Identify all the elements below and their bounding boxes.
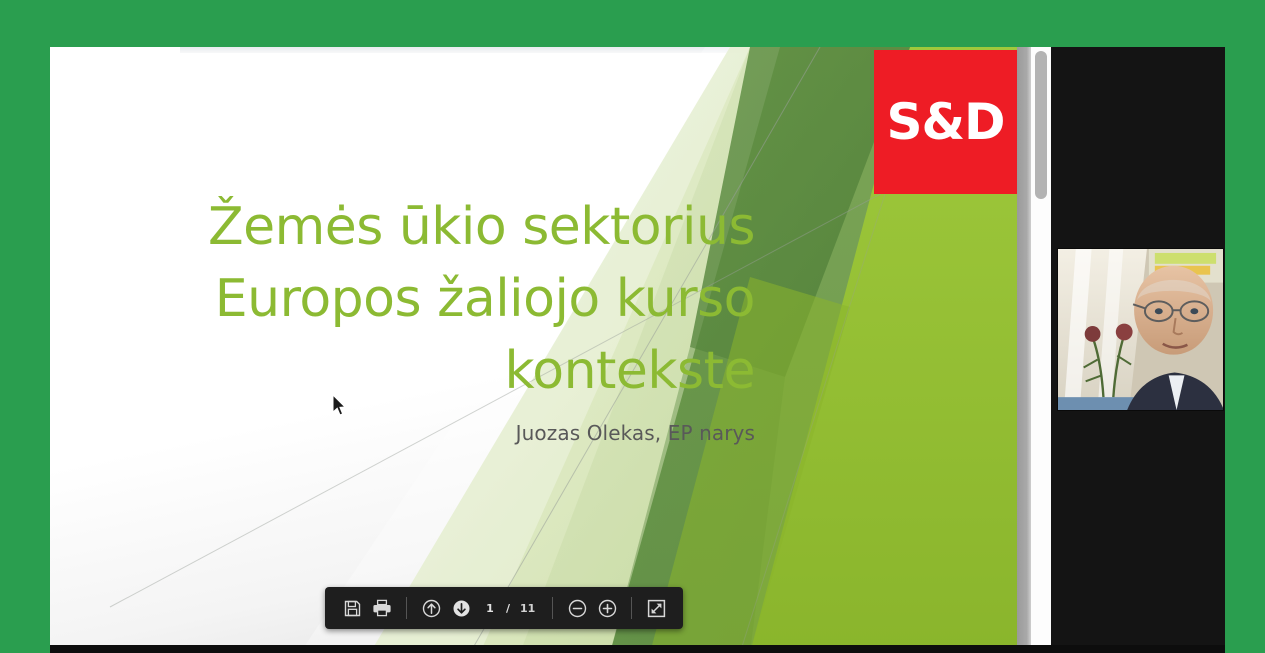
toolbar-separator [406,597,407,619]
fit-to-screen-button[interactable] [641,593,671,623]
zoom-out-button[interactable] [562,593,592,623]
viewer-edge-shadow [1017,47,1031,653]
next-page-button[interactable] [446,593,476,623]
toolbar-separator [631,597,632,619]
save-button[interactable] [337,593,367,623]
toolbar-separator [552,597,553,619]
page-indicator[interactable]: 1 / 11 [476,602,543,615]
print-button[interactable] [367,593,397,623]
pdf-slide-canvas[interactable]: S&D Žemės ūkio sektorius Europos žaliojo… [50,47,1017,653]
call-stage: S&D Žemės ūkio sektorius Europos žaliojo… [50,47,1225,653]
vertical-scrollbar-thumb[interactable] [1035,51,1047,199]
slide-subtitle: Juozas Olekas, EP narys [160,421,755,445]
avatar [1058,249,1223,410]
self-view-video-tile[interactable] [1057,248,1224,411]
sd-logo-text: S&D [886,97,1004,147]
page-separator: / [506,602,510,615]
shared-screen-panel[interactable]: S&D Žemės ūkio sektorius Europos žaliojo… [50,47,1051,653]
current-page-value[interactable]: 1 [484,602,496,615]
sd-logo: S&D [874,50,1017,194]
stage-bottom-band [50,645,1225,653]
previous-page-button[interactable] [416,593,446,623]
zoom-in-button[interactable] [592,593,622,623]
video-call-window: S&D Žemės ūkio sektorius Europos žaliojo… [0,0,1265,653]
total-pages-value: 11 [520,602,535,615]
pdf-toolbar[interactable]: 1 / 11 [325,587,683,629]
page-title: Žemės ūkio sektorius Europos žaliojo kur… [160,192,755,407]
slide-title-block: Žemės ūkio sektorius Europos žaliojo kur… [160,192,755,445]
